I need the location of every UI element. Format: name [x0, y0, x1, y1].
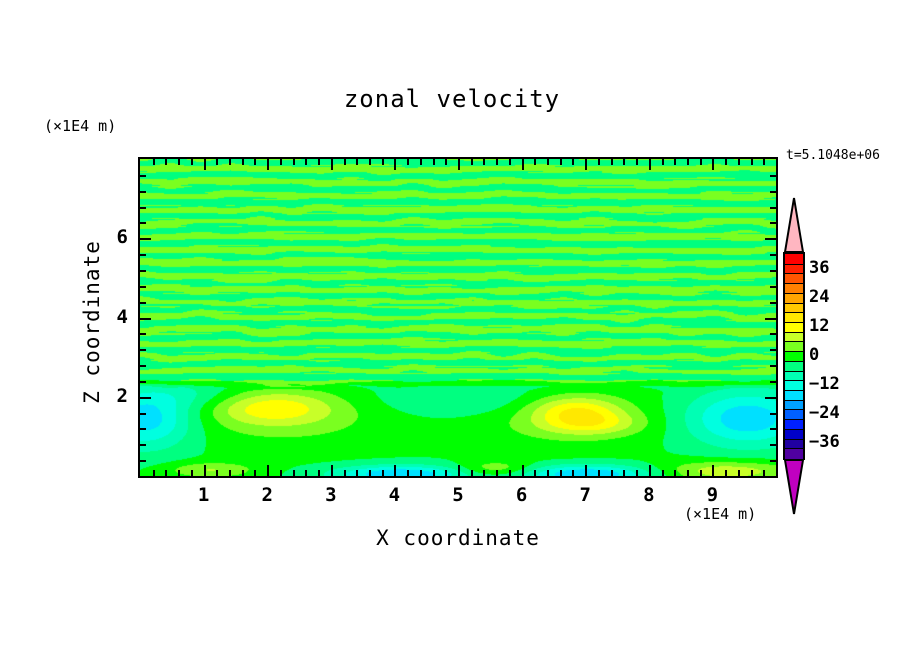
x-tick [433, 470, 435, 476]
x-tick [394, 465, 396, 476]
x-tick [483, 159, 485, 165]
y-tick [140, 349, 146, 351]
x-tick [560, 470, 562, 476]
x-tick [407, 159, 409, 165]
figure-canvas: zonal velocity (×1E4 m) (×1E4 m) X coord… [0, 0, 904, 654]
x-tick [280, 470, 282, 476]
x-tick [496, 159, 498, 165]
x-tick-label: 2 [247, 484, 287, 506]
y-tick [770, 254, 776, 256]
x-tick [382, 470, 384, 476]
colorbar-tick-label: −36 [809, 432, 840, 452]
x-tick [331, 465, 333, 476]
x-tick [254, 470, 256, 476]
x-tick [153, 159, 155, 165]
x-tick [293, 159, 295, 165]
y-tick [770, 365, 776, 367]
y-tick [140, 207, 146, 209]
x-tick [445, 159, 447, 165]
x-tick [509, 470, 511, 476]
x-tick [585, 465, 587, 476]
x-tick [153, 470, 155, 476]
x-tick [483, 470, 485, 476]
x-tick [649, 465, 651, 476]
y-tick [140, 318, 151, 320]
y-tick [140, 175, 146, 177]
y-tick [140, 238, 151, 240]
x-tick [725, 159, 727, 165]
x-tick [598, 159, 600, 165]
y-tick-label: 6 [88, 226, 128, 248]
y-tick [140, 270, 146, 272]
y-tick [770, 270, 776, 272]
y-tick [140, 191, 146, 193]
page-title: zonal velocity [0, 85, 904, 113]
x-tick [254, 159, 256, 165]
x-tick [242, 159, 244, 165]
x-tick [471, 470, 473, 476]
y-tick [140, 365, 146, 367]
x-tick [611, 470, 613, 476]
x-tick [751, 470, 753, 476]
x-tick [229, 470, 231, 476]
x-tick [191, 470, 193, 476]
x-tick [458, 465, 460, 476]
x-tick [738, 470, 740, 476]
y-tick [140, 381, 146, 383]
x-tick [305, 470, 307, 476]
x-tick [585, 159, 587, 170]
colorbar-over-arrow-icon [783, 197, 805, 253]
y-tick [770, 175, 776, 177]
x-tick [369, 159, 371, 165]
x-tick [394, 159, 396, 170]
y-tick [140, 286, 146, 288]
x-tick [369, 470, 371, 476]
x-tick [204, 465, 206, 476]
x-tick [611, 159, 613, 165]
x-tick [216, 470, 218, 476]
y-tick [770, 413, 776, 415]
x-tick-label: 1 [184, 484, 224, 506]
y-tick [140, 413, 146, 415]
x-tick [356, 470, 358, 476]
x-tick [191, 159, 193, 165]
x-tick-label: 8 [629, 484, 669, 506]
colorbar-tick-label: −24 [809, 403, 840, 423]
x-tick [420, 159, 422, 165]
x-tick [725, 470, 727, 476]
y-tick-label: 4 [88, 306, 128, 328]
x-tick [522, 465, 524, 476]
y-tick [770, 460, 776, 462]
x-tick [763, 470, 765, 476]
x-tick [471, 159, 473, 165]
y-axis-unit-label: (×1E4 m) [44, 117, 116, 135]
x-tick [165, 470, 167, 476]
x-tick [572, 159, 574, 165]
x-tick [522, 159, 524, 170]
x-tick [382, 159, 384, 165]
y-tick [770, 286, 776, 288]
y-tick [770, 333, 776, 335]
colorbar-tick-label: 36 [809, 258, 829, 278]
x-tick [318, 159, 320, 165]
colorbar-under-arrow-icon [783, 459, 805, 515]
y-tick-label: 2 [88, 385, 128, 407]
x-tick [674, 470, 676, 476]
y-tick [765, 238, 776, 240]
y-tick [770, 207, 776, 209]
x-tick [267, 465, 269, 476]
x-tick [662, 159, 664, 165]
colorbar-segment [785, 448, 803, 459]
colorbar-segments [783, 252, 805, 460]
y-tick [770, 302, 776, 304]
x-axis-unit-label: (×1E4 m) [684, 505, 756, 523]
time-annotation: t=5.1048e+06 [786, 148, 880, 163]
y-tick [765, 318, 776, 320]
x-tick [344, 470, 346, 476]
x-tick [547, 470, 549, 476]
y-tick [770, 444, 776, 446]
x-tick [280, 159, 282, 165]
x-tick [229, 159, 231, 165]
x-tick-label: 5 [438, 484, 478, 506]
y-tick [770, 428, 776, 430]
x-tick [687, 470, 689, 476]
x-tick [572, 470, 574, 476]
x-tick [356, 159, 358, 165]
x-tick [636, 159, 638, 165]
x-tick [420, 470, 422, 476]
y-tick [140, 254, 146, 256]
x-tick-label: 4 [374, 484, 414, 506]
colorbar-segment [785, 254, 803, 264]
colorbar-tick-label: 0 [809, 345, 819, 365]
x-tick-label: 6 [502, 484, 542, 506]
x-tick [445, 470, 447, 476]
y-tick [140, 444, 146, 446]
colorbar: 3624120−12−24−36 [783, 197, 805, 515]
x-tick [534, 159, 536, 165]
x-tick [509, 159, 511, 165]
x-tick [178, 159, 180, 165]
x-tick [649, 159, 651, 170]
colorbar-tick-label: 12 [809, 316, 829, 336]
x-tick-label: 3 [311, 484, 351, 506]
x-tick [700, 159, 702, 165]
x-axis-title: X coordinate [138, 526, 778, 550]
x-tick [293, 470, 295, 476]
x-tick-label: 9 [692, 484, 732, 506]
x-tick [216, 159, 218, 165]
x-tick [242, 470, 244, 476]
y-tick [770, 381, 776, 383]
x-tick [305, 159, 307, 165]
x-tick [636, 470, 638, 476]
y-tick [770, 349, 776, 351]
x-tick [623, 159, 625, 165]
x-tick-label: 7 [565, 484, 605, 506]
y-tick [140, 333, 146, 335]
x-tick [331, 159, 333, 170]
x-tick [496, 470, 498, 476]
y-tick [140, 460, 146, 462]
x-tick [738, 159, 740, 165]
x-tick [407, 470, 409, 476]
y-tick [770, 222, 776, 224]
contour-field [140, 159, 776, 476]
y-tick [770, 191, 776, 193]
x-tick [547, 159, 549, 165]
x-tick [344, 159, 346, 165]
x-tick [751, 159, 753, 165]
x-tick [712, 465, 714, 476]
x-tick [687, 159, 689, 165]
x-tick [433, 159, 435, 165]
x-tick [534, 470, 536, 476]
x-tick [712, 159, 714, 170]
x-tick [178, 470, 180, 476]
y-tick [765, 397, 776, 399]
y-tick [140, 428, 146, 430]
x-tick [674, 159, 676, 165]
colorbar-tick-label: −12 [809, 374, 840, 394]
x-tick [165, 159, 167, 165]
colorbar-tick-label: 24 [809, 287, 829, 307]
y-tick [140, 397, 151, 399]
x-tick [458, 159, 460, 170]
x-tick [318, 470, 320, 476]
x-tick [598, 470, 600, 476]
x-tick [700, 470, 702, 476]
x-tick [662, 470, 664, 476]
x-tick [267, 159, 269, 170]
y-tick [140, 222, 146, 224]
x-tick [763, 159, 765, 165]
x-tick [623, 470, 625, 476]
x-tick [204, 159, 206, 170]
x-tick [560, 159, 562, 165]
y-tick [140, 302, 146, 304]
contour-plot-area [138, 157, 778, 478]
